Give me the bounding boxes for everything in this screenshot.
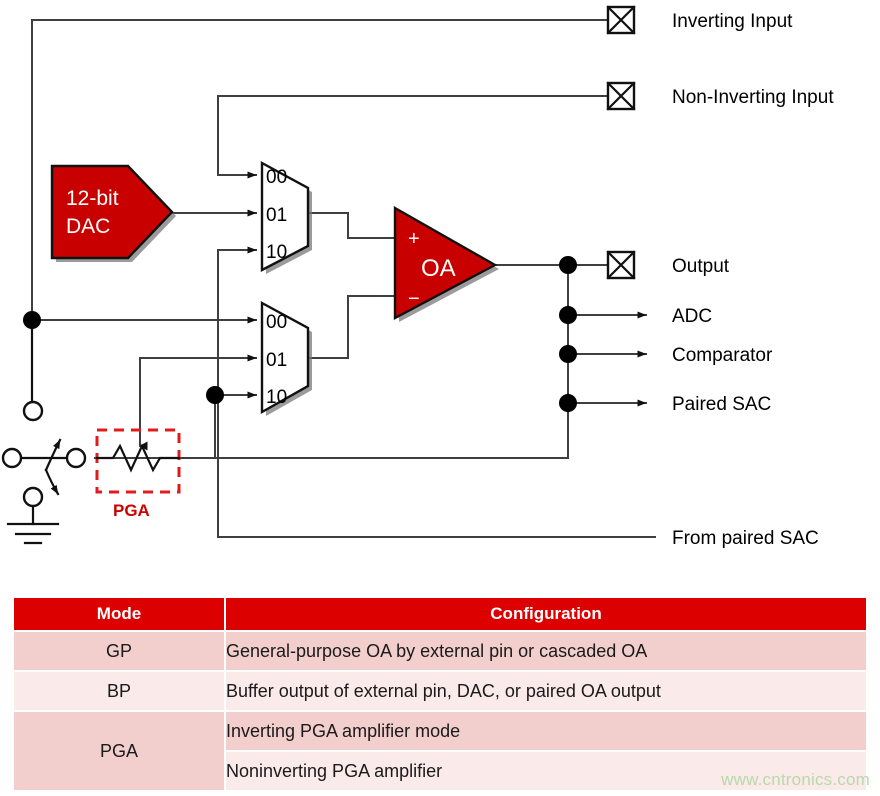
- pin-square-x-icon-noninverting[interactable]: [608, 83, 634, 109]
- dac-label-line2: DAC: [66, 215, 110, 238]
- schematic-svg: 12-bit DAC 00 01 10 00 01 10 + OA − PGA: [0, 0, 880, 596]
- label-comparator: Comparator: [672, 345, 773, 366]
- label-inverting-input: Inverting Input: [672, 11, 793, 32]
- pga-boundary-box[interactable]: [97, 430, 179, 492]
- mux-bottom-input-10-label: 10: [266, 387, 287, 408]
- cell-mode-bp: BP: [13, 671, 225, 711]
- junction-dot-left-bus: [23, 311, 41, 329]
- mux-top-input-10-label: 10: [266, 242, 287, 263]
- label-output: Output: [672, 256, 730, 277]
- switch-node-top-icon[interactable]: [24, 402, 42, 420]
- cell-config-bp: Buffer output of external pin, DAC, or p…: [225, 671, 867, 711]
- cell-config-pga-inverting: Inverting PGA amplifier mode: [225, 711, 867, 751]
- label-paired-sac: Paired SAC: [672, 394, 771, 415]
- pin-square-x-icon-inverting[interactable]: [608, 7, 634, 33]
- schematic-diagram: 12-bit DAC 00 01 10 00 01 10 + OA − PGA: [0, 0, 880, 596]
- cell-config-gp: General-purpose OA by external pin or ca…: [225, 631, 867, 671]
- mux-top-input-01-label: 01: [266, 205, 287, 226]
- wire-mux-top-out-to-oa-plus: [308, 213, 396, 238]
- switch-arrow-up-icon: [46, 440, 60, 470]
- mux-top-input-00-label: 00: [266, 167, 287, 188]
- junction-dot-paired-sac: [559, 394, 577, 412]
- table-row: GP General-purpose OA by external pin or…: [13, 631, 867, 671]
- label-from-paired-sac: From paired SAC: [672, 528, 819, 549]
- mode-configuration-table-wrap: Mode Configuration GP General-purpose OA…: [12, 596, 868, 792]
- table-row: BP Buffer output of external pin, DAC, o…: [13, 671, 867, 711]
- junction-dot-comparator: [559, 345, 577, 363]
- label-adc: ADC: [672, 306, 712, 327]
- wire-mux-bottom-out-to-oa-minus: [308, 296, 396, 358]
- table-header-row: Mode Configuration: [13, 597, 867, 631]
- switch-node-common-icon[interactable]: [3, 449, 21, 467]
- junction-dot-output: [559, 256, 577, 274]
- pin-square-x-icon-output[interactable]: [608, 252, 634, 278]
- dac-label-line1: 12-bit: [66, 187, 119, 210]
- switch-node-wiper-icon[interactable]: [67, 449, 85, 467]
- watermark-text: www.cntronics.com: [721, 770, 870, 790]
- junction-dot-feedback: [206, 386, 224, 404]
- column-header-mode: Mode: [13, 597, 225, 631]
- switch-arrow-down-icon: [46, 470, 58, 494]
- wire-noninverting-input: [218, 96, 608, 175]
- table-row: PGA Inverting PGA amplifier mode: [13, 711, 867, 751]
- switch-node-ground-icon[interactable]: [24, 488, 42, 506]
- oa-minus-sign: −: [408, 288, 420, 310]
- oa-plus-sign: +: [408, 228, 420, 250]
- mux-bottom-input-01-label: 01: [266, 350, 287, 371]
- dac-block[interactable]: [52, 166, 172, 258]
- junction-dot-adc: [559, 306, 577, 324]
- cell-mode-pga: PGA: [13, 711, 225, 791]
- mode-configuration-table: Mode Configuration GP General-purpose OA…: [12, 596, 868, 792]
- column-header-configuration: Configuration: [225, 597, 867, 631]
- label-noninverting-input: Non-Inverting Input: [672, 87, 834, 108]
- oa-label: OA: [421, 255, 456, 282]
- cell-mode-gp: GP: [13, 631, 225, 671]
- pga-label: PGA: [113, 501, 150, 520]
- mux-bottom-input-00-label: 00: [266, 312, 287, 333]
